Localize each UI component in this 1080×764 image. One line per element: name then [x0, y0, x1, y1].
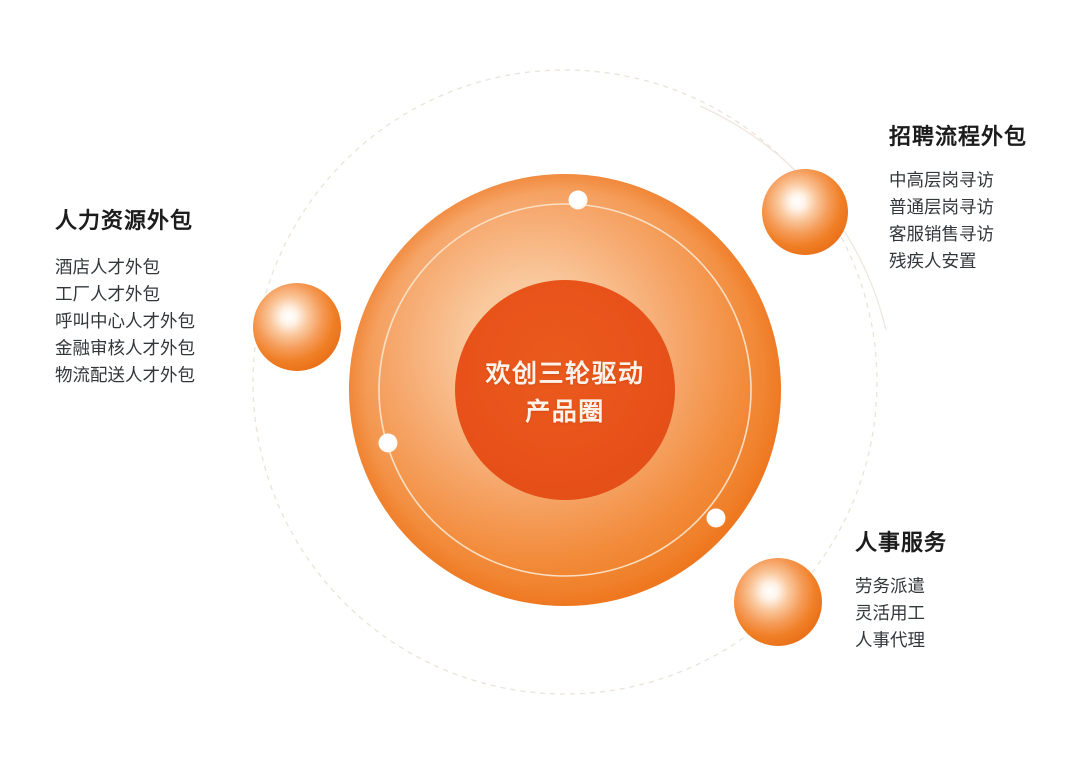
block-rpo-list: 中高层岗寻访 普通层岗寻访 客服销售寻访 残疾人安置 — [889, 167, 1027, 275]
list-item: 普通层岗寻访 — [889, 194, 1027, 221]
list-item: 金融审核人才外包 — [55, 335, 195, 362]
list-item: 工厂人才外包 — [55, 281, 195, 308]
infographic-canvas: 欢创三轮驱动 产品圈 人力资源外包 酒店人才外包 工厂人才外包 呼叫中心人才外包… — [0, 0, 1080, 764]
block-hr-outsourcing-title: 人力资源外包 — [55, 208, 195, 234]
block-hr-service-title: 人事服务 — [855, 530, 947, 556]
list-item: 呼叫中心人才外包 — [55, 308, 195, 335]
ring-dot-left[interactable] — [379, 434, 398, 453]
sphere-left[interactable] — [253, 283, 341, 371]
list-item: 客服销售寻访 — [889, 221, 1027, 248]
list-item: 物流配送人才外包 — [55, 362, 195, 389]
ring-dot-bottom-right[interactable] — [707, 509, 726, 528]
list-item: 劳务派遣 — [855, 573, 947, 600]
block-hr-service: 人事服务 劳务派遣 灵活用工 人事代理 — [855, 530, 947, 654]
list-item: 残疾人安置 — [889, 248, 1027, 275]
list-item: 中高层岗寻访 — [889, 167, 1027, 194]
block-hr-outsourcing: 人力资源外包 酒店人才外包 工厂人才外包 呼叫中心人才外包 金融审核人才外包 物… — [55, 208, 195, 389]
list-item: 酒店人才外包 — [55, 254, 195, 281]
inner-circle — [455, 280, 675, 500]
list-item: 人事代理 — [855, 627, 947, 654]
sphere-top-right[interactable] — [762, 169, 848, 255]
block-hr-outsourcing-list: 酒店人才外包 工厂人才外包 呼叫中心人才外包 金融审核人才外包 物流配送人才外包 — [55, 254, 195, 389]
block-hr-service-list: 劳务派遣 灵活用工 人事代理 — [855, 573, 947, 654]
sphere-bottom-right[interactable] — [734, 558, 822, 646]
list-item: 灵活用工 — [855, 600, 947, 627]
ring-dot-top[interactable] — [569, 191, 588, 210]
block-rpo-title: 招聘流程外包 — [889, 124, 1027, 150]
block-rpo: 招聘流程外包 中高层岗寻访 普通层岗寻访 客服销售寻访 残疾人安置 — [889, 124, 1027, 275]
